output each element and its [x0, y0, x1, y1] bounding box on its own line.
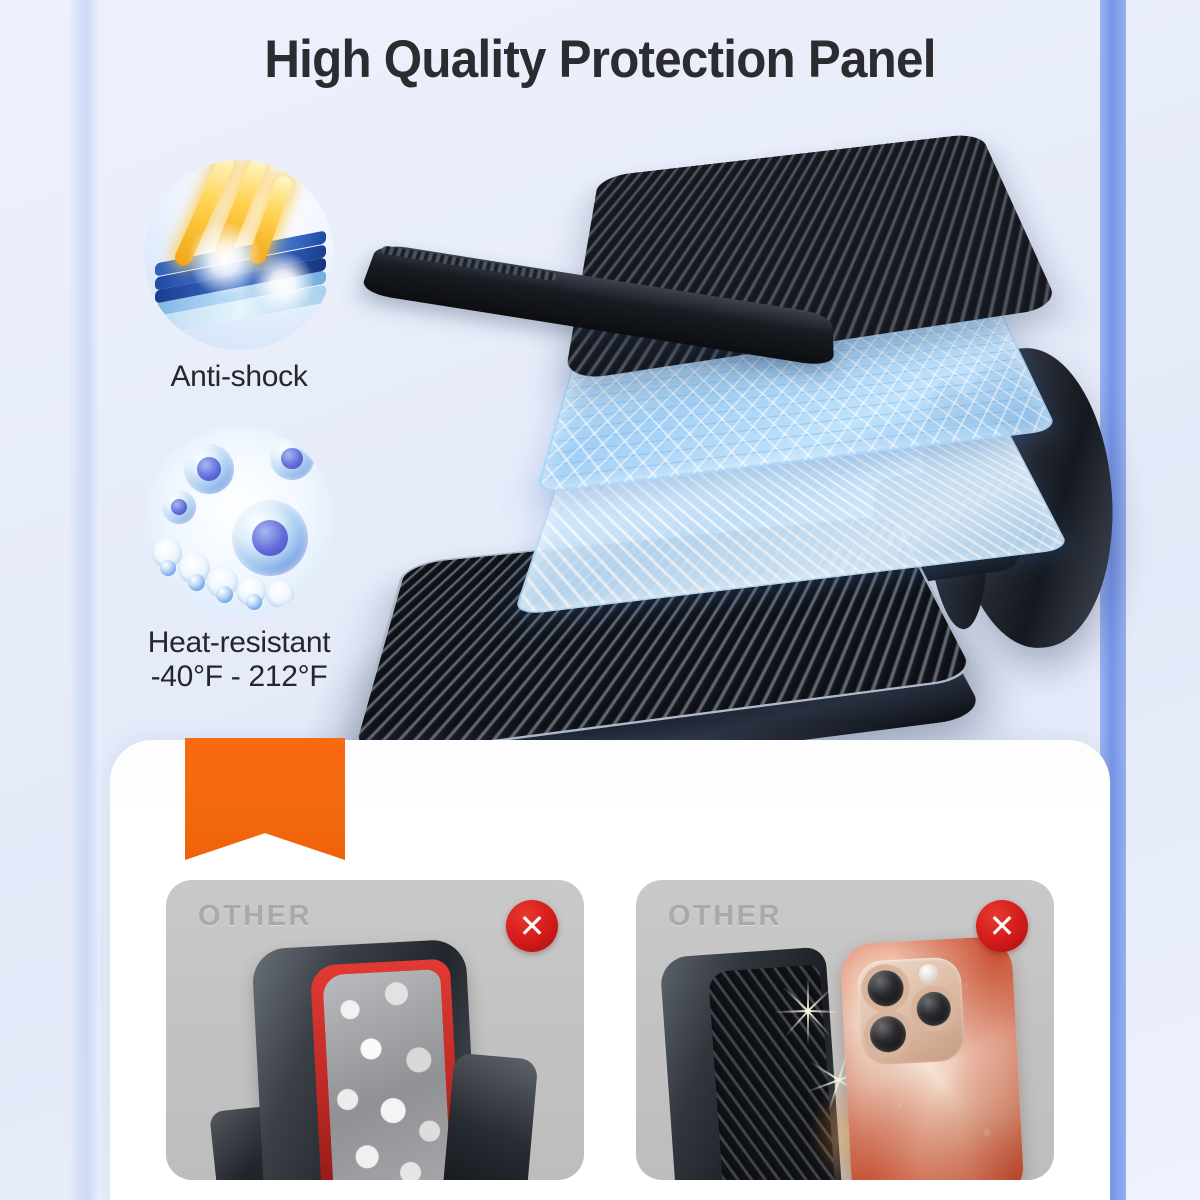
molecule-icon	[144, 426, 334, 616]
cross-badge-icon: ✕	[506, 900, 558, 952]
left-edge-strip	[70, 0, 100, 1200]
comparison-panel-other-rough-pad: OTHER ✕	[166, 880, 584, 1180]
comparison-label: OTHER	[198, 900, 312, 933]
comparison-row: OTHER ✕	[166, 880, 1054, 1180]
feature-label: Anti-shock	[108, 360, 370, 394]
feature-heat-resistant: Heat-resistant -40°F - 212°F	[108, 426, 370, 694]
cross-badge-icon: ✕	[976, 900, 1028, 952]
cross-icon-glyph: ✕	[506, 900, 558, 952]
scratched-phone-with-sparks-image	[660, 924, 1036, 1180]
comparison-panel-other-scratched-phone: OTHER ✕	[636, 880, 1054, 1180]
comparison-card: OTHER ✕	[110, 740, 1110, 1200]
feature-label: Heat-resistant	[108, 626, 370, 660]
feature-anti-shock: Anti-shock	[108, 160, 370, 394]
mount-with-rough-bumpy-gray-pad-image	[204, 938, 534, 1180]
shock-absorption-layers-icon	[144, 160, 334, 350]
feature-sublabel: -40°F - 212°F	[108, 660, 370, 694]
comparison-label: OTHER	[668, 900, 782, 933]
orange-bookmark-ribbon	[185, 738, 345, 860]
feature-list: Anti-shock Heat-resistant -40°F - 212°F	[108, 160, 370, 726]
product-exploded-view	[352, 78, 1152, 778]
product-marketing-page: High Quality Protection Panel Anti-shock	[0, 0, 1200, 1200]
cross-icon-glyph: ✕	[976, 900, 1028, 952]
